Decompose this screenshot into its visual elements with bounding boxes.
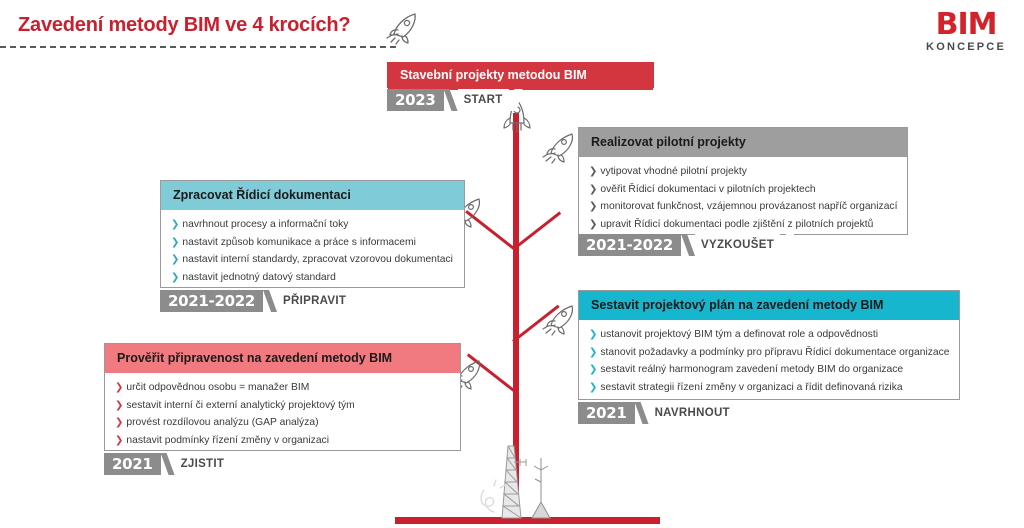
page-title: Zavedení metody BIM ve 4 krocích? bbox=[18, 14, 350, 37]
tag-end-icon bbox=[509, 89, 525, 111]
list-item-label: vytipovat vhodné pilotní projekty bbox=[600, 165, 747, 178]
list-item: ❯ ověřit Řídicí dokumentaci v pilotních … bbox=[589, 183, 897, 196]
list-item-label: sestavit strategii řízení změny v organi… bbox=[600, 381, 902, 394]
list-item-label: monitorovat funkčnost, vzájemnou prováza… bbox=[600, 200, 897, 213]
card-plan[interactable]: Sestavit projektový plán na zavedení met… bbox=[578, 290, 960, 400]
tag-goal-action: START bbox=[458, 89, 509, 111]
tag-goal-year: 2023 bbox=[387, 89, 444, 111]
tag-plan: 2021 NAVRHNOUT bbox=[578, 402, 752, 424]
list-item-label: stanovit požadavky a podmínky pro přípra… bbox=[600, 346, 949, 359]
tag-readiness-action: ZJISTIT bbox=[175, 453, 231, 475]
list-item: ❯ sestavit interní či externí analytický… bbox=[115, 399, 450, 412]
tag-readiness-year: 2021 bbox=[104, 453, 161, 475]
chevron-right-icon: ❯ bbox=[115, 399, 123, 412]
logo-brand: BIM bbox=[926, 10, 1006, 40]
tag-end-icon bbox=[736, 402, 752, 424]
chevron-right-icon: ❯ bbox=[589, 363, 597, 376]
list-item-label: sestavit interní či externí analytický p… bbox=[126, 399, 354, 412]
list-item-label: upravit Řídicí dokumentaci podle zjištěn… bbox=[600, 218, 873, 231]
list-item-label: nastavit způsob komunikace a práce s inf… bbox=[182, 236, 416, 249]
card-goal[interactable]: Stavební projekty metodou BIM bbox=[387, 62, 654, 88]
chevron-right-icon: ❯ bbox=[589, 183, 597, 196]
card-pilot-bullets: ❯ vytipovat vhodné pilotní projekty ❯ ov… bbox=[579, 157, 907, 240]
card-readiness[interactable]: Prověřit připravenost na zavedení metody… bbox=[104, 343, 461, 451]
list-item: ❯ vytipovat vhodné pilotní projekty bbox=[589, 165, 897, 178]
chevron-right-icon: ❯ bbox=[171, 253, 179, 266]
title-divider bbox=[0, 46, 396, 48]
list-item-label: navrhnout procesy a informační toky bbox=[182, 218, 348, 231]
tag-goal: 2023 START bbox=[387, 89, 525, 111]
list-item: ❯ navrhnout procesy a informační toky bbox=[171, 218, 454, 231]
list-item: ❯ stanovit požadavky a podmínky pro příp… bbox=[589, 346, 949, 359]
list-item-label: provést rozdílovou analýzu (GAP analýza) bbox=[126, 416, 318, 429]
tag-slash-icon bbox=[263, 290, 277, 312]
list-item-label: ověřit Řídicí dokumentaci v pilotních pr… bbox=[600, 183, 815, 196]
tag-end-icon bbox=[780, 234, 796, 256]
list-item: ❯ nastavit podmínky řízení změny v organ… bbox=[115, 434, 450, 447]
chevron-right-icon: ❯ bbox=[171, 271, 179, 284]
branch-to-pilot bbox=[512, 211, 561, 250]
tag-slash-icon bbox=[635, 402, 649, 424]
tag-slash-icon bbox=[444, 89, 458, 111]
rocket-icon bbox=[382, 8, 426, 48]
chevron-right-icon: ❯ bbox=[589, 218, 597, 231]
tag-slash-icon bbox=[681, 234, 695, 256]
chevron-right-icon: ❯ bbox=[589, 381, 597, 394]
card-readiness-bullets: ❯ určit odpovědnou osobu = manažer BIM ❯… bbox=[105, 373, 460, 456]
logo: BIM KONCEPCE bbox=[926, 10, 1006, 54]
chevron-right-icon: ❯ bbox=[115, 416, 123, 429]
chevron-right-icon: ❯ bbox=[115, 434, 123, 447]
list-item: ❯ sestavit reálný harmonogram zavedení m… bbox=[589, 363, 949, 376]
list-item: ❯ upravit Řídicí dokumentaci podle zjišt… bbox=[589, 218, 897, 231]
card-goal-title: Stavební projekty metodou BIM bbox=[388, 63, 653, 90]
card-pilot[interactable]: Realizovat pilotní projekty ❯ vytipovat … bbox=[578, 127, 908, 235]
list-item-label: sestavit reálný harmonogram zavedení met… bbox=[600, 363, 903, 376]
tag-pilot-action: VYZKOUŠET bbox=[695, 234, 780, 256]
tag-pilot: 2021-2022 VYZKOUŠET bbox=[578, 234, 796, 256]
logo-subtitle: KONCEPCE bbox=[926, 41, 1006, 54]
tag-docs: 2021-2022 PŘIPRAVIT bbox=[160, 290, 368, 312]
list-item: ❯ sestavit strategii řízení změny v orga… bbox=[589, 381, 949, 394]
list-item-label: nastavit jednotný datový standard bbox=[182, 271, 335, 284]
card-docs-title: Zpracovat Řídicí dokumentaci bbox=[161, 181, 464, 210]
infographic-canvas: Zavedení metody BIM ve 4 krocích? BIM KO… bbox=[0, 0, 1024, 528]
tag-end-icon bbox=[230, 453, 246, 475]
list-item: ❯ ustanovit projektový BIM tým a definov… bbox=[589, 328, 949, 341]
tag-readiness: 2021 ZJISTIT bbox=[104, 453, 246, 475]
tag-docs-action: PŘIPRAVIT bbox=[277, 290, 352, 312]
list-item: ❯ provést rozdílovou analýzu (GAP analýz… bbox=[115, 416, 450, 429]
card-plan-bullets: ❯ ustanovit projektový BIM tým a definov… bbox=[579, 320, 959, 403]
chevron-right-icon: ❯ bbox=[589, 328, 597, 341]
tag-pilot-year: 2021-2022 bbox=[578, 234, 681, 256]
card-docs[interactable]: Zpracovat Řídicí dokumentaci ❯ navrhnout… bbox=[160, 180, 465, 288]
chevron-right-icon: ❯ bbox=[589, 346, 597, 359]
card-plan-title: Sestavit projektový plán na zavedení met… bbox=[579, 291, 959, 320]
launch-tower-icon bbox=[480, 440, 570, 524]
list-item-label: nastavit podmínky řízení změny v organiz… bbox=[126, 434, 329, 447]
chevron-right-icon: ❯ bbox=[589, 165, 597, 178]
chevron-right-icon: ❯ bbox=[171, 236, 179, 249]
chevron-right-icon: ❯ bbox=[171, 218, 179, 231]
chevron-right-icon: ❯ bbox=[115, 381, 123, 394]
chevron-right-icon: ❯ bbox=[589, 200, 597, 213]
list-item: ❯ nastavit jednotný datový standard bbox=[171, 271, 454, 284]
card-readiness-title: Prověřit připravenost na zavedení metody… bbox=[105, 344, 460, 373]
tag-plan-year: 2021 bbox=[578, 402, 635, 424]
tag-plan-action: NAVRHNOUT bbox=[649, 402, 736, 424]
list-item-label: určit odpovědnou osobu = manažer BIM bbox=[126, 381, 309, 394]
list-item-label: ustanovit projektový BIM tým a definovat… bbox=[600, 328, 878, 341]
list-item: ❯ nastavit způsob komunikace a práce s i… bbox=[171, 236, 454, 249]
tag-end-icon bbox=[352, 290, 368, 312]
list-item: ❯ nastavit interní standardy, zpracovat … bbox=[171, 253, 454, 266]
tag-docs-year: 2021-2022 bbox=[160, 290, 263, 312]
list-item: ❯ monitorovat funkčnost, vzájemnou prová… bbox=[589, 200, 897, 213]
card-pilot-title: Realizovat pilotní projekty bbox=[579, 128, 907, 157]
tag-slash-icon bbox=[161, 453, 175, 475]
list-item: ❯ určit odpovědnou osobu = manažer BIM bbox=[115, 381, 450, 394]
list-item-label: nastavit interní standardy, zpracovat vz… bbox=[182, 253, 453, 266]
card-docs-bullets: ❯ navrhnout procesy a informační toky ❯ … bbox=[161, 210, 464, 293]
